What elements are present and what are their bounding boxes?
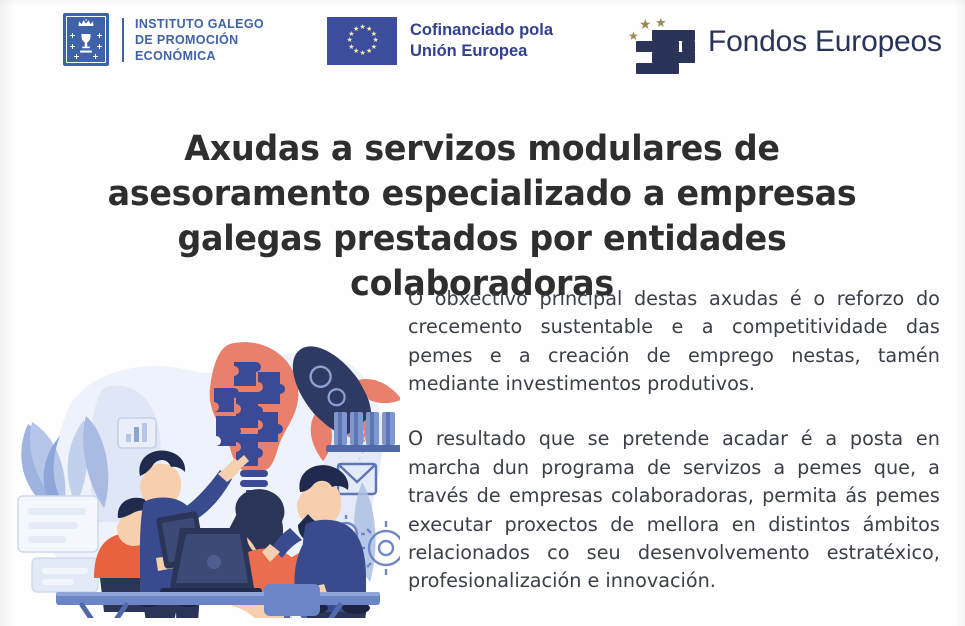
- european-union-logo: ★ ★ ★ ★ ★ ★ ★ ★ ★ ★ ★ ★ Cofinanciado pol…: [327, 17, 553, 65]
- eu-line-1: Cofinanciado pola: [410, 20, 553, 41]
- fondos-europeos-logo: ★ ★ ★ Fondos Europeos: [622, 8, 942, 76]
- binder-shelf-icon: [326, 412, 400, 452]
- page-title: Axudas a servizos modulares de asesorame…: [57, 127, 906, 306]
- eu-line-2: Unión Europea: [410, 41, 553, 62]
- funding-logo-strip: INSTITUTO GALEGO DE PROMOCIÓN ECONÓMICA …: [0, 0, 965, 88]
- chart-panel-icon: [118, 418, 156, 448]
- eu-flag-icon: ★ ★ ★ ★ ★ ★ ★ ★ ★ ★ ★ ★: [327, 17, 397, 65]
- crown-icon: [78, 19, 95, 27]
- cross-icon: [70, 33, 75, 38]
- fondos-europeos-wordmark: Fondos Europeos: [708, 25, 942, 59]
- xunta-de-galicia-coat-of-arms-icon: [63, 13, 109, 66]
- cross-icon: [97, 33, 102, 38]
- cross-icon: [74, 54, 79, 59]
- igape-line-3: ECONÓMICA: [135, 48, 264, 64]
- eu-wordmark: Cofinanciado pola Unión Europea: [410, 20, 553, 63]
- paragraph-result: O resultado que se pretende acadar é a p…: [408, 425, 940, 595]
- poster-page: INSTITUTO GALEGO DE PROMOCIÓN ECONÓMICA …: [0, 0, 965, 626]
- cross-icon: [93, 54, 98, 59]
- cross-icon: [97, 44, 102, 49]
- chalice-icon: [78, 31, 94, 55]
- paragraph-objective: O obxectivo principal destas axudas é o …: [408, 285, 940, 398]
- office-chair-icon: [264, 584, 320, 618]
- team-collaboration-illustration: [8, 296, 400, 618]
- desk-icon: [56, 592, 380, 618]
- igape-line-2: DE PROMOCIÓN: [135, 32, 264, 48]
- body-copy: O obxectivo principal destas axudas é o …: [408, 285, 940, 596]
- fondos-europeos-steps-icon: ★ ★ ★: [622, 8, 702, 76]
- cross-icon: [70, 44, 75, 49]
- logo-divider: [122, 18, 124, 62]
- igape-wordmark: INSTITUTO GALEGO DE PROMOCIÓN ECONÓMICA: [135, 16, 264, 64]
- whiteboard-icon: [18, 496, 98, 592]
- igape-logo: INSTITUTO GALEGO DE PROMOCIÓN ECONÓMICA: [63, 13, 264, 66]
- igape-line-1: INSTITUTO GALEGO: [135, 16, 264, 32]
